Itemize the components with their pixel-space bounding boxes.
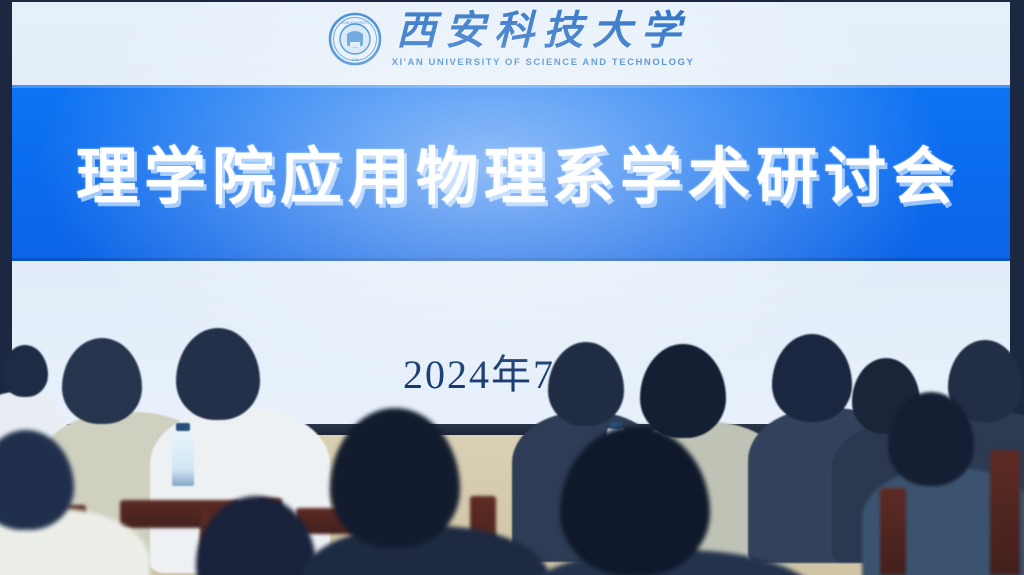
slide-header: XI'AN UNIVERSITY 1958 西安科技大学 XI'AN UNIVE… (12, 10, 1010, 67)
university-name-block: 西安科技大学 XI'AN UNIVERSITY OF SCIENCE AND T… (392, 11, 695, 68)
svg-text:1958: 1958 (351, 58, 358, 62)
university-seal-icon: XI'AN UNIVERSITY 1958 (328, 12, 382, 66)
slide-title-text: 理学院应用物理系学术研讨会 (76, 126, 960, 216)
banner-bottom-edge (12, 258, 1010, 261)
slide-title-banner: 理学院应用物理系学术研讨会 (12, 85, 1010, 261)
chair-8 (990, 450, 1020, 575)
water-bottle-left-cap (176, 423, 190, 431)
conference-room-scene: XI'AN UNIVERSITY 1958 西安科技大学 XI'AN UNIVE… (0, 0, 1024, 575)
university-name-en: XI'AN UNIVERSITY OF SCIENCE AND TECHNOLO… (392, 57, 695, 68)
water-bottle-left (172, 430, 194, 486)
university-name-cn: 西安科技大学 (396, 11, 690, 51)
svg-text:XI'AN UNIVERSITY: XI'AN UNIVERSITY (341, 21, 370, 25)
chair-7 (880, 488, 906, 575)
banner-top-edge (12, 85, 1010, 88)
audience-group (0, 300, 1024, 575)
